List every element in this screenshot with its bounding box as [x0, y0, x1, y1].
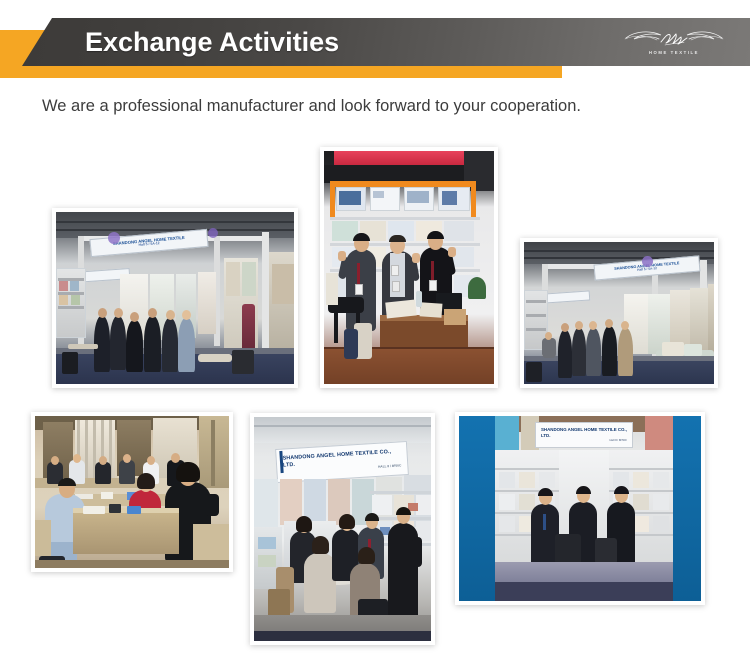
photo-3-booth-sign-sub: Hall 5 / 5A-12: [637, 267, 657, 272]
photo-2-image: [324, 151, 494, 384]
photo-4-image: [35, 416, 229, 568]
gallery-photo-6[interactable]: SHANDONG ANGEL HOME TEXTILE CO., LTD. Ha…: [455, 412, 705, 605]
photo-6-booth-sign-sub: Hall 8 / 8F50C: [610, 439, 627, 442]
gallery-photo-5[interactable]: SHANDONG ANGEL HOME TEXTILE CO., LTD. HA…: [250, 413, 435, 645]
photo-6-booth-sign: SHANDONG ANGEL HOME TEXTILE CO., LTD.: [541, 427, 627, 438]
photo-gallery: SHANDONG ANGEL HOME TEXTILE Hall 5 / 5A-…: [0, 0, 750, 672]
gallery-photo-1[interactable]: SHANDONG ANGEL HOME TEXTILE Hall 5 / 5A-…: [52, 208, 298, 388]
gallery-photo-4[interactable]: [31, 412, 233, 572]
photo-1-booth-sign-sub: Hall 5 / 5A-12: [139, 243, 160, 249]
photo-5-booth-sign-sub: HALL 8 / 8F50C: [378, 464, 402, 469]
photo-3-image: SHANDONG ANGEL HOME TEXTILE Hall 5 / 5A-…: [524, 242, 714, 384]
gallery-photo-3[interactable]: SHANDONG ANGEL HOME TEXTILE Hall 5 / 5A-…: [520, 238, 718, 388]
exchange-activities-page: Exchange Activities HOME TEXTILE We are …: [0, 0, 750, 672]
gallery-photo-2[interactable]: [320, 147, 498, 388]
photo-1-image: SHANDONG ANGEL HOME TEXTILE Hall 5 / 5A-…: [56, 212, 294, 384]
photo-6-image: SHANDONG ANGEL HOME TEXTILE CO., LTD. Ha…: [459, 416, 701, 601]
photo-5-image: SHANDONG ANGEL HOME TEXTILE CO., LTD. HA…: [254, 417, 431, 641]
